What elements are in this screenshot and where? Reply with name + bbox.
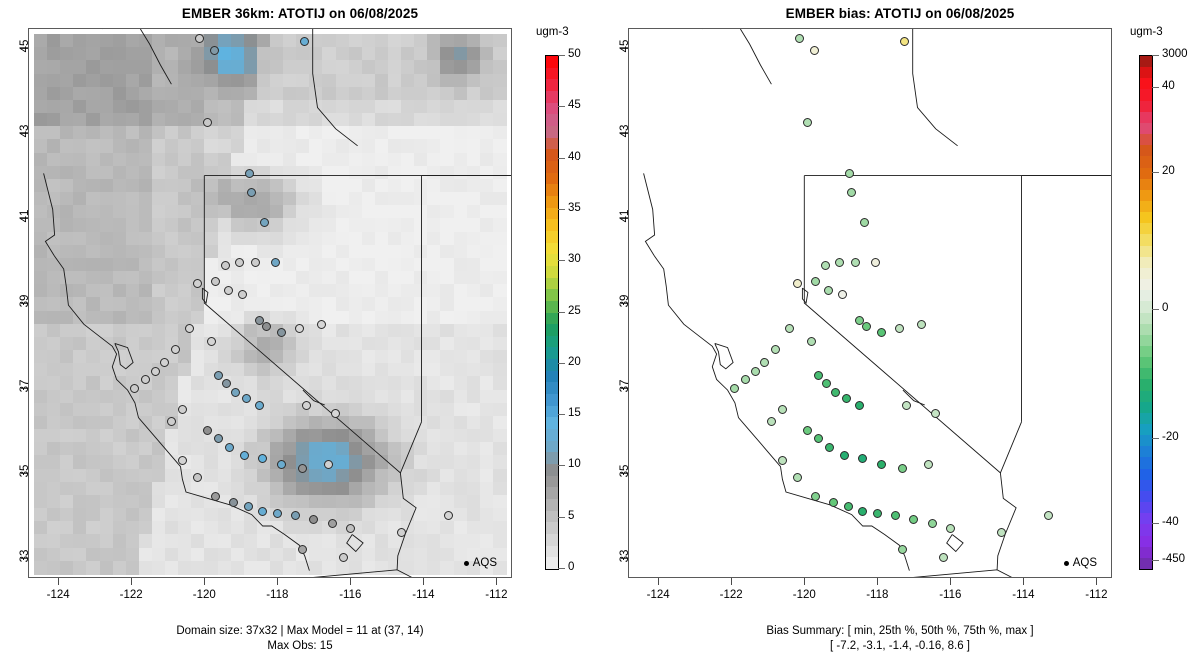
station-marker[interactable] — [225, 443, 234, 452]
station-marker[interactable] — [298, 545, 307, 554]
station-marker[interactable] — [858, 507, 867, 516]
colorbar-segment — [546, 511, 558, 523]
x-tick-mark — [877, 578, 878, 585]
station-marker[interactable] — [444, 511, 453, 520]
station-marker[interactable] — [891, 511, 900, 520]
colorbar-segment — [1140, 123, 1152, 135]
colorbar-segment — [1140, 335, 1152, 347]
station-marker[interactable] — [171, 345, 180, 354]
colorbar-segment — [546, 476, 558, 488]
colorbar-segment — [1140, 168, 1152, 180]
colorbar-tick-label: 0 — [1162, 302, 1168, 314]
station-marker[interactable] — [877, 460, 886, 469]
station-marker[interactable] — [811, 492, 820, 501]
colorbar-tick-label: 45 — [568, 99, 581, 111]
station-marker[interactable] — [829, 498, 838, 507]
station-marker[interactable] — [244, 502, 253, 511]
colorbar-segment — [1140, 67, 1152, 79]
colorbar-tick-mark — [558, 465, 565, 466]
colorbar-segment — [546, 313, 558, 325]
station-marker[interactable] — [302, 401, 311, 410]
colorbar-tick-label: 30 — [568, 253, 581, 265]
colorbar-tick-mark — [1152, 438, 1159, 439]
colorbar-tick-label: -20 — [1162, 431, 1179, 443]
station-marker[interactable] — [207, 337, 216, 346]
station-marker[interactable] — [785, 324, 794, 333]
colorbar-segment — [546, 464, 558, 476]
station-marker[interactable] — [160, 358, 169, 367]
station-marker[interactable] — [851, 258, 860, 267]
aqs-legend-label: AQS — [1073, 557, 1097, 569]
station-marker[interactable] — [214, 371, 223, 380]
station-marker[interactable] — [811, 277, 820, 286]
colorbar-segment — [546, 359, 558, 371]
station-marker[interactable] — [151, 367, 160, 376]
station-marker[interactable] — [193, 473, 202, 482]
station-marker[interactable] — [909, 515, 918, 524]
colorbar-tick-mark — [1152, 309, 1159, 310]
colorbar-segment — [1140, 301, 1152, 313]
colorbar-segment — [546, 522, 558, 534]
station-marker[interactable] — [229, 498, 238, 507]
colorbar-segment — [1140, 391, 1152, 403]
x-tick-label: -118 — [257, 589, 297, 601]
x-tick-label: -120 — [784, 589, 824, 601]
colorbar-segment — [1140, 424, 1152, 436]
station-marker[interactable] — [900, 37, 909, 46]
colorbar-tick-label: 10 — [568, 458, 581, 470]
panel-bias-caption: Bias Summary: [ min, 25th %, 50th %, 75t… — [600, 624, 1200, 654]
station-marker[interactable] — [271, 258, 280, 267]
colorbar-segment — [1140, 268, 1152, 280]
station-marker[interactable] — [939, 553, 948, 562]
colorbar-tick-label: 20 — [568, 356, 581, 368]
station-marker[interactable] — [346, 524, 355, 533]
aqs-legend-bias: AQS — [1064, 557, 1097, 569]
colorbar-segment — [546, 417, 558, 429]
colorbar-segment — [546, 184, 558, 196]
colorbar-segment — [546, 219, 558, 231]
station-marker[interactable] — [844, 502, 853, 511]
station-marker[interactable] — [224, 286, 233, 295]
colorbar-segment — [546, 289, 558, 301]
station-marker[interactable] — [240, 451, 249, 460]
colorbar-segment — [1140, 212, 1152, 224]
colorbar-segment — [546, 68, 558, 80]
colorbar-segment — [1140, 357, 1152, 369]
colorbar-segment — [546, 126, 558, 138]
colorbar-segment — [546, 324, 558, 336]
colorbar-segment — [1140, 89, 1152, 101]
station-marker[interactable] — [309, 515, 318, 524]
colorbar-segment — [1140, 257, 1152, 269]
station-marker[interactable] — [793, 279, 802, 288]
colorbar-segment — [1140, 491, 1152, 503]
station-marker[interactable] — [831, 388, 840, 397]
station-marker[interactable] — [211, 492, 220, 501]
station-marker[interactable] — [298, 464, 307, 473]
station-marker[interactable] — [331, 409, 340, 418]
station-marker[interactable] — [898, 464, 907, 473]
colorbar-segment — [1140, 223, 1152, 235]
station-marker[interactable] — [871, 258, 880, 267]
x-tick-label: -116 — [330, 589, 370, 601]
colorbar-segment — [1140, 78, 1152, 90]
colorbar-segment — [1140, 56, 1152, 68]
station-marker[interactable] — [130, 384, 139, 393]
colorbar-segment — [546, 487, 558, 499]
y-tick-label: 39 — [619, 290, 631, 312]
y-tick-label: 35 — [619, 460, 631, 482]
map-clip-bias — [629, 29, 1111, 577]
colorbar-segment — [1140, 536, 1152, 548]
station-marker[interactable] — [185, 324, 194, 333]
x-tick-label: -122 — [111, 589, 151, 601]
colorbar-segment — [546, 336, 558, 348]
colorbar-tick-label: 40 — [1162, 80, 1175, 92]
colorbar-segment — [1140, 469, 1152, 481]
station-marker[interactable] — [203, 426, 212, 435]
colorbar-segment — [1140, 134, 1152, 146]
colorbar-segment — [546, 371, 558, 383]
station-marker[interactable] — [397, 528, 406, 537]
station-marker[interactable] — [211, 277, 220, 286]
station-marker[interactable] — [895, 324, 904, 333]
station-marker[interactable] — [873, 509, 882, 518]
colorbar-tick-mark — [558, 363, 565, 364]
colorbar-tick-label: -450 — [1162, 553, 1185, 565]
y-tick-label: 37 — [19, 375, 31, 397]
station-marker[interactable] — [807, 337, 816, 346]
station-marker[interactable] — [924, 460, 933, 469]
station-marker[interactable] — [258, 454, 267, 463]
colorbar-segment — [1140, 201, 1152, 213]
colorbar-segment — [546, 149, 558, 161]
station-marker[interactable] — [840, 451, 849, 460]
x-tick-label: -114 — [1003, 589, 1043, 601]
colorbar-bias — [1139, 55, 1153, 570]
station-marker[interactable] — [245, 169, 254, 178]
station-marker[interactable] — [778, 405, 787, 414]
station-marker[interactable] — [193, 279, 202, 288]
panel-bias-plot-area: AQS — [628, 28, 1112, 578]
station-marker[interactable] — [845, 169, 854, 178]
station-marker[interactable] — [295, 324, 304, 333]
panel-bias: EMBER bias: ATOTIJ on 06/08/2025 AQS 454… — [600, 0, 1200, 672]
x-tick-label: -112 — [476, 589, 516, 601]
station-marker[interactable] — [277, 460, 286, 469]
colorbar-segment — [1140, 190, 1152, 202]
colorbar-segment — [546, 114, 558, 126]
colorbar-segment — [1140, 246, 1152, 258]
station-marker[interactable] — [324, 460, 333, 469]
colorbar-segment — [546, 301, 558, 313]
colorbar-segment — [546, 138, 558, 150]
station-marker[interactable] — [195, 34, 204, 43]
panel-model-plot-area: AQS — [28, 28, 512, 578]
station-marker[interactable] — [838, 290, 847, 299]
station-marker[interactable] — [751, 367, 760, 376]
panel-model-caption: Domain size: 37x32 | Max Model = 11 at (… — [0, 624, 600, 654]
x-tick-mark — [731, 578, 732, 585]
x-tick-label: -116 — [930, 589, 970, 601]
aqs-station-markers-model — [29, 29, 511, 577]
colorbar-segment — [1140, 346, 1152, 358]
colorbar-segment — [546, 161, 558, 173]
x-tick-mark — [1023, 578, 1024, 585]
caption-line-1: Bias Summary: [ min, 25th %, 50th %, 75t… — [600, 624, 1200, 639]
station-marker[interactable] — [822, 379, 831, 388]
colorbar-segment — [546, 91, 558, 103]
colorbar-segment — [546, 441, 558, 453]
colorbar-tick-mark — [558, 517, 565, 518]
aqs-station-markers-bias — [629, 29, 1111, 577]
y-tick-label: 39 — [19, 290, 31, 312]
x-tick-mark — [658, 578, 659, 585]
station-marker[interactable] — [741, 375, 750, 384]
station-marker[interactable] — [291, 511, 300, 520]
station-marker[interactable] — [847, 188, 856, 197]
station-marker[interactable] — [946, 524, 955, 533]
colorbar-segment — [1140, 402, 1152, 414]
station-marker[interactable] — [778, 456, 787, 465]
station-marker[interactable] — [855, 401, 864, 410]
x-tick-label: -112 — [1076, 589, 1116, 601]
colorbar-tick-label: 0 — [568, 561, 574, 573]
x-tick-mark — [496, 578, 497, 585]
station-marker[interactable] — [898, 545, 907, 554]
station-marker[interactable] — [260, 218, 269, 227]
aqs-legend-model: AQS — [464, 557, 497, 569]
station-marker[interactable] — [814, 371, 823, 380]
station-marker[interactable] — [317, 320, 326, 329]
x-tick-mark — [1096, 578, 1097, 585]
station-marker[interactable] — [877, 328, 886, 337]
panel-bias-title: EMBER bias: ATOTIJ on 06/08/2025 — [600, 6, 1200, 21]
colorbar-segment — [1140, 234, 1152, 246]
colorbar-segment — [1140, 502, 1152, 514]
colorbar-tick-mark — [558, 312, 565, 313]
colorbar-segment — [1140, 457, 1152, 469]
colorbar-segment — [546, 243, 558, 255]
colorbar-tick-mark — [558, 568, 565, 569]
y-tick-label: 41 — [19, 205, 31, 227]
station-marker[interactable] — [824, 286, 833, 295]
colorbar-segment — [546, 546, 558, 558]
colorbar-segment — [546, 173, 558, 185]
caption-line-2: Max Obs: 15 — [0, 639, 600, 654]
colorbar-tick-mark — [558, 209, 565, 210]
station-marker[interactable] — [277, 328, 286, 337]
colorbar-unit-model: ugm-3 — [536, 26, 569, 38]
colorbar-model — [545, 55, 559, 570]
colorbar-segment — [1140, 179, 1152, 191]
colorbar-tick-label: 15 — [568, 407, 581, 419]
colorbar-segment — [1140, 435, 1152, 447]
colorbar-segment — [1140, 101, 1152, 113]
colorbar-segment — [546, 56, 558, 68]
station-marker[interactable] — [235, 258, 244, 267]
x-tick-label: -124 — [638, 589, 678, 601]
station-marker[interactable] — [862, 322, 871, 331]
station-marker[interactable] — [231, 388, 240, 397]
station-marker[interactable] — [902, 401, 911, 410]
colorbar-segment — [1140, 112, 1152, 124]
y-tick-label: 45 — [19, 35, 31, 57]
colorbar-segment — [1140, 379, 1152, 391]
station-marker[interactable] — [795, 34, 804, 43]
station-marker[interactable] — [860, 218, 869, 227]
colorbar-tick-label: 3000 — [1162, 48, 1188, 60]
y-tick-label: 37 — [619, 375, 631, 397]
figure-root: EMBER 36km: ATOTIJ on 06/08/2025 AQS 454… — [0, 0, 1200, 672]
station-marker[interactable] — [825, 443, 834, 452]
x-tick-mark — [950, 578, 951, 585]
station-marker[interactable] — [222, 379, 231, 388]
x-tick-label: -122 — [711, 589, 751, 601]
station-marker[interactable] — [221, 261, 230, 270]
colorbar-segment — [1140, 413, 1152, 425]
aqs-dot-icon — [464, 561, 469, 566]
colorbar-segment — [1140, 446, 1152, 458]
colorbar-segment — [546, 79, 558, 91]
colorbar-segment — [1140, 558, 1152, 570]
colorbar-segment — [546, 266, 558, 278]
station-marker[interactable] — [258, 507, 267, 516]
station-marker[interactable] — [917, 320, 926, 329]
station-marker[interactable] — [997, 528, 1006, 537]
panel-model-title: EMBER 36km: ATOTIJ on 06/08/2025 — [0, 6, 600, 21]
colorbar-segment — [546, 406, 558, 418]
colorbar-tick-label: 5 — [568, 510, 574, 522]
colorbar-segment — [546, 254, 558, 266]
station-marker[interactable] — [238, 290, 247, 299]
y-tick-label: 33 — [619, 545, 631, 567]
aqs-dot-icon — [1064, 561, 1069, 566]
station-marker[interactable] — [178, 405, 187, 414]
station-marker[interactable] — [760, 358, 769, 367]
station-marker[interactable] — [141, 375, 150, 384]
station-marker[interactable] — [339, 553, 348, 562]
station-marker[interactable] — [842, 394, 851, 403]
station-marker[interactable] — [328, 519, 337, 528]
colorbar-segment — [546, 231, 558, 243]
x-tick-mark — [804, 578, 805, 585]
colorbar-tick-mark — [1152, 523, 1159, 524]
colorbar-tick-label: 25 — [568, 305, 581, 317]
station-marker[interactable] — [771, 345, 780, 354]
x-tick-label: -124 — [38, 589, 78, 601]
colorbar-segment — [1140, 290, 1152, 302]
colorbar-tick-mark — [558, 414, 565, 415]
colorbar-segment — [1140, 324, 1152, 336]
station-marker[interactable] — [858, 454, 867, 463]
x-tick-mark — [204, 578, 205, 585]
station-marker[interactable] — [814, 434, 823, 443]
station-marker[interactable] — [251, 258, 260, 267]
colorbar-segment — [546, 208, 558, 220]
station-marker[interactable] — [730, 384, 739, 393]
colorbar-tick-mark — [1152, 560, 1159, 561]
y-tick-label: 43 — [619, 120, 631, 142]
colorbar-tick-mark — [1152, 55, 1159, 56]
station-marker[interactable] — [242, 394, 251, 403]
caption-line-1: Domain size: 37x32 | Max Model = 11 at (… — [0, 624, 600, 639]
x-tick-label: -114 — [403, 589, 443, 601]
colorbar-tick-label: 20 — [1162, 165, 1175, 177]
colorbar-tick-mark — [558, 55, 565, 56]
station-marker[interactable] — [214, 434, 223, 443]
colorbar-segment — [546, 557, 558, 569]
station-marker[interactable] — [210, 46, 219, 55]
colorbar-segment — [1140, 279, 1152, 291]
colorbar-tick-mark — [558, 106, 565, 107]
colorbar-segment — [546, 382, 558, 394]
station-marker[interactable] — [203, 118, 212, 127]
station-marker[interactable] — [178, 456, 187, 465]
aqs-legend-label: AQS — [473, 557, 497, 569]
station-marker[interactable] — [793, 473, 802, 482]
colorbar-segment — [546, 103, 558, 115]
station-marker[interactable] — [821, 261, 830, 270]
station-marker[interactable] — [255, 401, 264, 410]
map-clip-model — [29, 29, 511, 577]
colorbar-segment — [1140, 480, 1152, 492]
colorbar-segment — [1140, 513, 1152, 525]
station-marker[interactable] — [1044, 511, 1053, 520]
y-tick-label: 41 — [619, 205, 631, 227]
colorbar-segment — [1140, 524, 1152, 536]
colorbar-tick-mark — [1152, 172, 1159, 173]
colorbar-tick-label: 40 — [568, 151, 581, 163]
station-marker[interactable] — [167, 417, 176, 426]
panel-model: EMBER 36km: ATOTIJ on 06/08/2025 AQS 454… — [0, 0, 600, 672]
station-marker[interactable] — [767, 417, 776, 426]
colorbar-segment — [1140, 547, 1152, 559]
y-tick-label: 33 — [19, 545, 31, 567]
colorbar-segment — [546, 278, 558, 290]
x-tick-mark — [277, 578, 278, 585]
station-marker[interactable] — [835, 258, 844, 267]
x-tick-label: -118 — [857, 589, 897, 601]
colorbar-segment — [1140, 313, 1152, 325]
station-marker[interactable] — [300, 37, 309, 46]
colorbar-segment — [546, 196, 558, 208]
y-tick-label: 43 — [19, 120, 31, 142]
station-marker[interactable] — [803, 426, 812, 435]
colorbar-segment — [546, 452, 558, 464]
station-marker[interactable] — [928, 519, 937, 528]
colorbar-tick-mark — [558, 158, 565, 159]
y-tick-label: 35 — [19, 460, 31, 482]
colorbar-segment — [1140, 145, 1152, 157]
colorbar-segment — [546, 347, 558, 359]
station-marker[interactable] — [273, 509, 282, 518]
x-tick-mark — [58, 578, 59, 585]
colorbar-segment — [546, 394, 558, 406]
colorbar-segment — [546, 499, 558, 511]
colorbar-unit-bias: ugm-3 — [1130, 26, 1163, 38]
colorbar-tick-mark — [558, 260, 565, 261]
station-marker[interactable] — [931, 409, 940, 418]
station-marker[interactable] — [262, 322, 271, 331]
x-tick-mark — [131, 578, 132, 585]
caption-line-2: [ -7.2, -3.1, -1.4, -0.16, 8.6 ] — [600, 639, 1200, 654]
colorbar-tick-mark — [1152, 87, 1159, 88]
station-marker[interactable] — [247, 188, 256, 197]
station-marker[interactable] — [803, 118, 812, 127]
station-marker[interactable] — [810, 46, 819, 55]
